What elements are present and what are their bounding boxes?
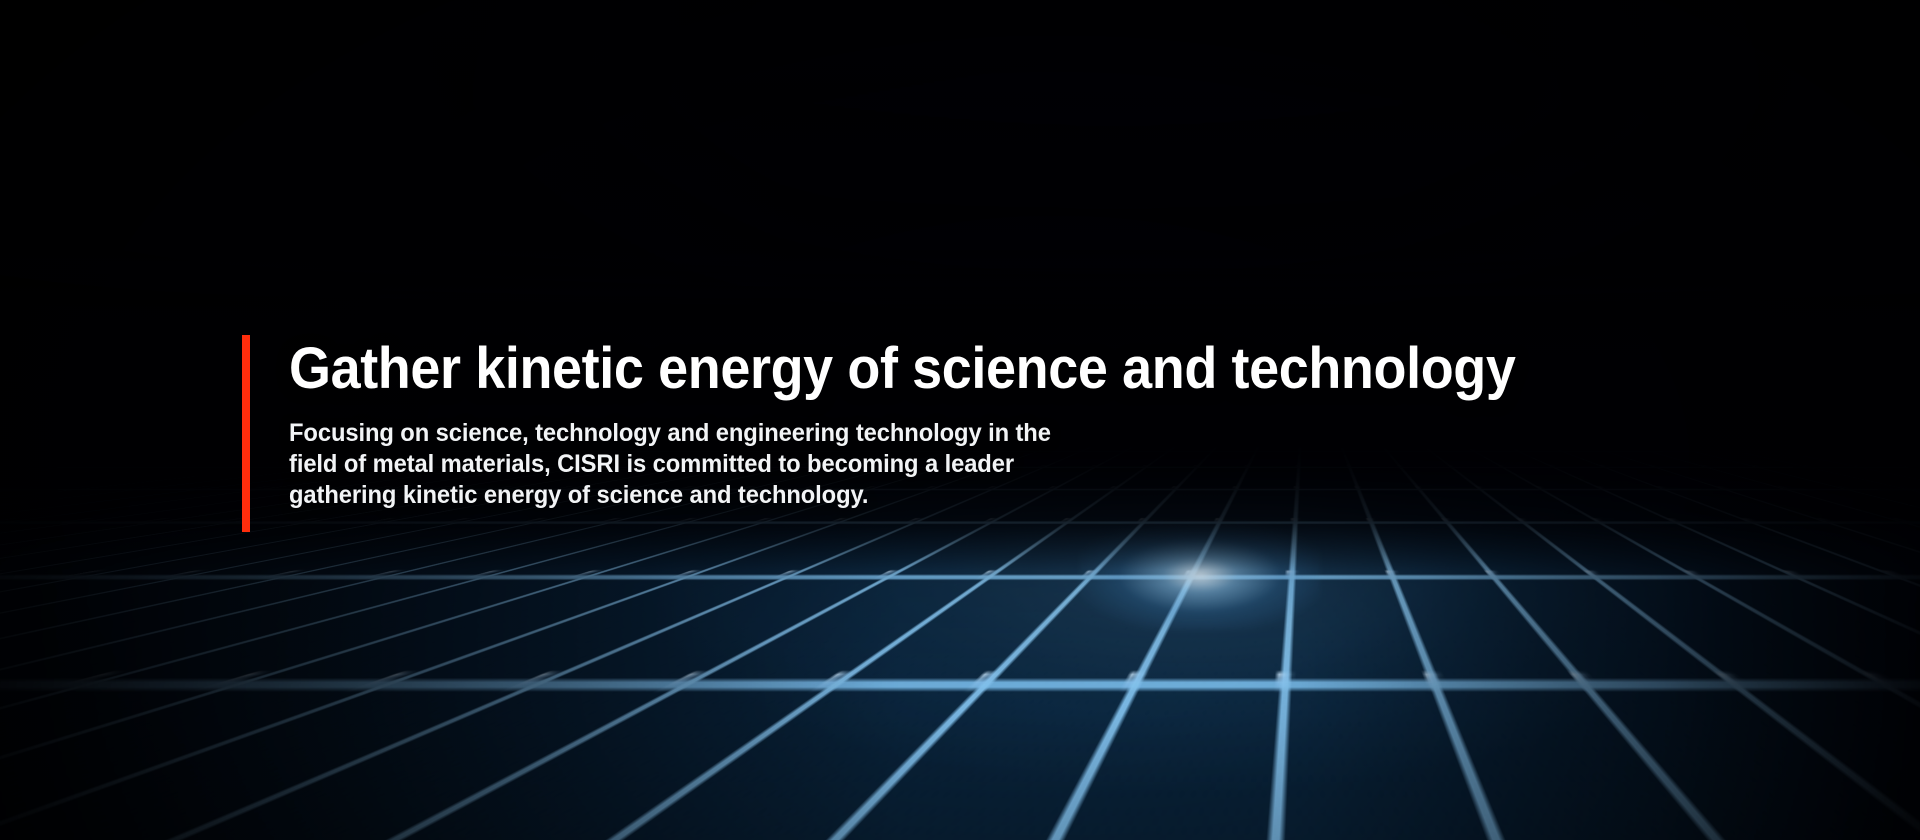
hero-subcopy-line-2: field of metal materials, CISRI is commi… (289, 449, 1542, 480)
red-accent-bar (242, 335, 250, 532)
hero-copy-text: Gather kinetic energy of science and tec… (250, 335, 1608, 532)
hero-copy-block: Gather kinetic energy of science and tec… (242, 335, 1608, 532)
hero-banner: Gather kinetic energy of science and tec… (0, 0, 1920, 840)
hero-subcopy: Focusing on science, technology and engi… (289, 418, 1542, 511)
hero-subcopy-line-3: gathering kinetic energy of science and … (289, 480, 1542, 511)
hero-headline: Gather kinetic energy of science and tec… (289, 339, 1515, 399)
hero-subcopy-line-1: Focusing on science, technology and engi… (289, 418, 1542, 449)
